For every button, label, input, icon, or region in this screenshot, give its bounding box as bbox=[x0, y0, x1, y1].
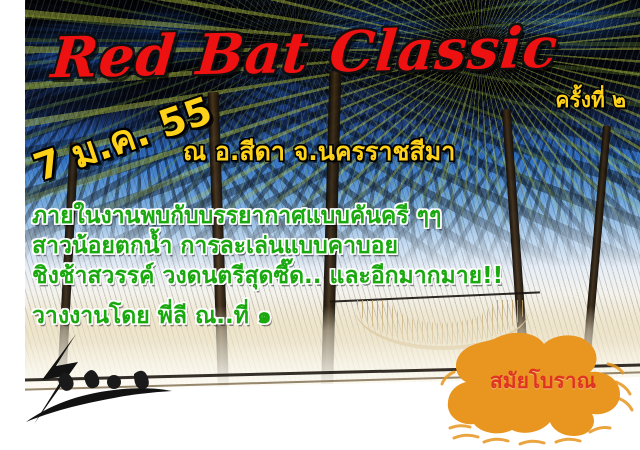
event-venue: ณ อ.สีดา จ.นครราชสีมา bbox=[183, 132, 455, 172]
description-line-3: ชิงช้าสวรรค์ วงดนตรีสุดซี๊ด.. และอีกมากม… bbox=[32, 258, 503, 294]
page-title: Red Bat Classic bbox=[49, 15, 561, 92]
badge-label: สมัยโบราณ bbox=[458, 365, 628, 398]
lightning-bolt-icon bbox=[18, 332, 178, 427]
poster-canvas: Red Bat Classic ครั้งที่ ๒ 7 ม.ค. 55 ณ อ… bbox=[0, 0, 640, 450]
edition-label: ครั้งที่ ๒ bbox=[555, 84, 626, 117]
description-line-4: วางงานโดย พี่ลี ณ..ที่ ๑ bbox=[32, 298, 272, 334]
